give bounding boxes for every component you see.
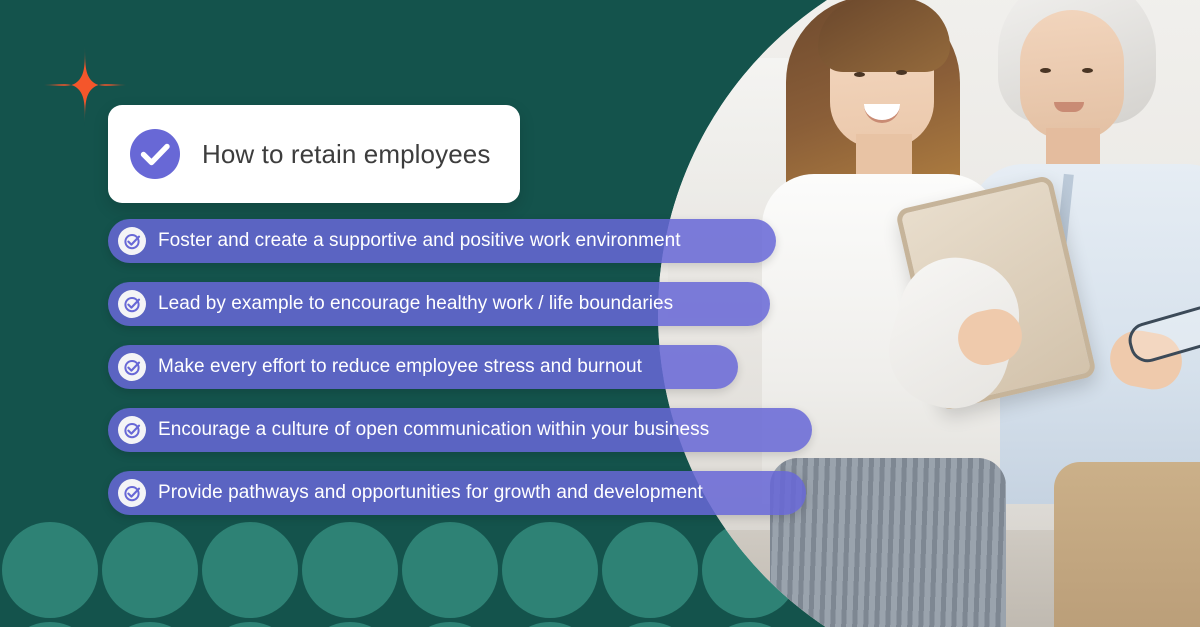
infographic-canvas: How to retain employees Foster and creat… <box>0 0 1200 627</box>
check-circle-filled-icon <box>130 129 180 179</box>
page-title: How to retain employees <box>202 139 490 170</box>
check-circle-outline-icon <box>118 290 146 318</box>
check-circle-outline-icon <box>118 227 146 255</box>
header-card: How to retain employees <box>108 105 520 203</box>
check-circle-outline-icon <box>118 416 146 444</box>
pattern-circle <box>402 522 498 618</box>
pattern-circle <box>2 522 98 618</box>
list-item[interactable]: Foster and create a supportive and posit… <box>108 219 776 263</box>
list-item-label: Foster and create a supportive and posit… <box>158 230 681 252</box>
pattern-circle <box>302 622 398 627</box>
list-item-label: Provide pathways and opportunities for g… <box>158 482 703 504</box>
list-item[interactable]: Make every effort to reduce employee str… <box>108 345 738 389</box>
pattern-circle <box>102 522 198 618</box>
pattern-circle <box>302 522 398 618</box>
pattern-circle <box>2 622 98 627</box>
list-item[interactable]: Encourage a culture of open communicatio… <box>108 408 812 452</box>
list-item-label: Lead by example to encourage healthy wor… <box>158 293 673 315</box>
check-circle-outline-icon <box>118 353 146 381</box>
pattern-circle <box>202 622 298 627</box>
pattern-circle <box>402 622 498 627</box>
pattern-circle <box>202 522 298 618</box>
pattern-circle <box>502 622 598 627</box>
list-item-label: Encourage a culture of open communicatio… <box>158 419 709 441</box>
check-circle-outline-icon <box>118 479 146 507</box>
pattern-circle <box>502 522 598 618</box>
list-item[interactable]: Provide pathways and opportunities for g… <box>108 471 806 515</box>
list-item[interactable]: Lead by example to encourage healthy wor… <box>108 282 770 326</box>
pattern-circle <box>102 622 198 627</box>
list-item-label: Make every effort to reduce employee str… <box>158 356 642 378</box>
